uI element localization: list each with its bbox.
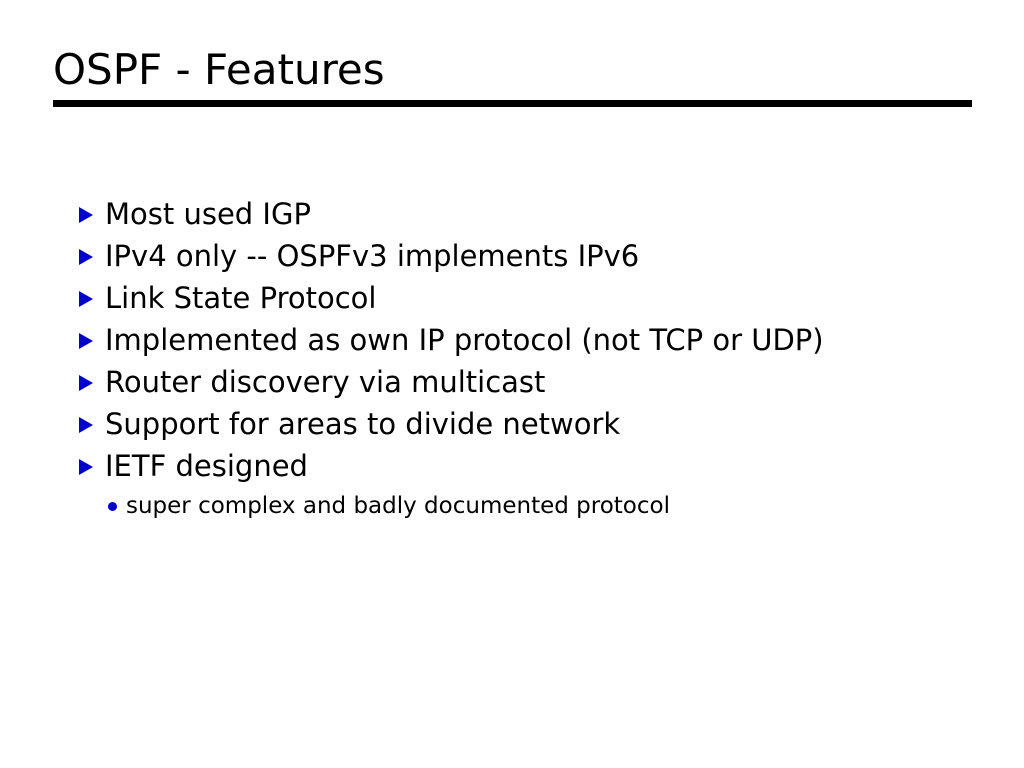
title-underline-rule — [53, 100, 972, 107]
list-item: Implemented as own IP protocol (not TCP … — [79, 321, 979, 363]
bullet-text: Router discovery via multicast — [105, 363, 545, 401]
list-item: Link State Protocol — [79, 279, 979, 321]
list-item: IETF designed — [79, 447, 979, 489]
list-item: Router discovery via multicast — [79, 363, 979, 405]
slide-title-block: OSPF - Features — [53, 44, 972, 107]
triangle-right-icon — [79, 279, 105, 317]
bullet-text: Most used IGP — [105, 195, 311, 233]
bullet-text: IETF designed — [105, 447, 308, 485]
page-title: OSPF - Features — [53, 44, 972, 96]
bullet-text: Implemented as own IP protocol (not TCP … — [105, 321, 824, 359]
list-item: Most used IGP — [79, 195, 979, 237]
list-item: Support for areas to divide network — [79, 405, 979, 447]
bullet-text: Link State Protocol — [105, 279, 376, 317]
triangle-right-icon — [79, 363, 105, 401]
triangle-right-icon — [79, 195, 105, 233]
triangle-right-icon — [79, 237, 105, 275]
slide: OSPF - Features Most used IGP IPv4 only … — [0, 0, 1024, 768]
sub-bullet-text: super complex and badly documented proto… — [126, 491, 670, 521]
triangle-right-icon — [79, 321, 105, 359]
dot-icon — [108, 491, 126, 521]
bullet-text: Support for areas to divide network — [105, 405, 620, 443]
bullet-text: IPv4 only -- OSPFv3 implements IPv6 — [105, 237, 639, 275]
triangle-right-icon — [79, 405, 105, 443]
bullet-list: Most used IGP IPv4 only -- OSPFv3 implem… — [79, 195, 979, 525]
sub-list-item: super complex and badly documented proto… — [108, 491, 979, 525]
triangle-right-icon — [79, 447, 105, 485]
list-item: IPv4 only -- OSPFv3 implements IPv6 — [79, 237, 979, 279]
